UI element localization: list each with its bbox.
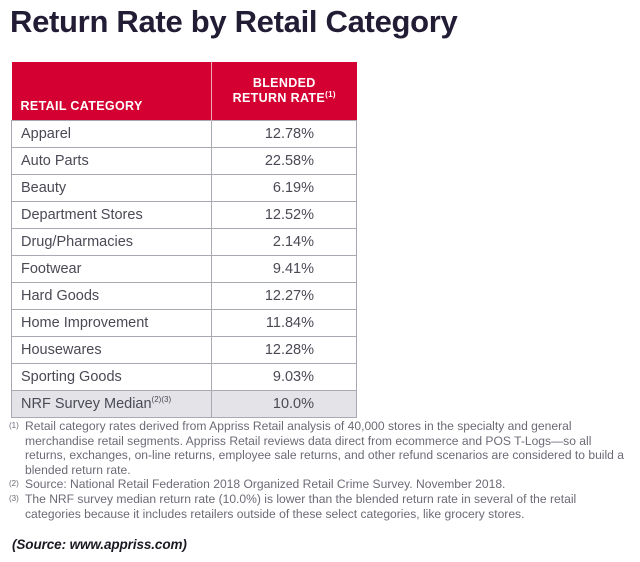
cell-blended-return-rate: 12.78% xyxy=(212,121,357,148)
page-title: Return Rate by Retail Category xyxy=(10,2,458,42)
column-header-blended-return-rate[interactable]: BLENDED RETURN RATE(1) xyxy=(212,62,357,121)
footnote: (1)Retail category rates derived from Ap… xyxy=(9,419,631,477)
footnote: (2)Source: National Retail Federation 20… xyxy=(9,477,631,492)
cell-retail-category: Hard Goods xyxy=(12,283,212,310)
cell-blended-return-rate: 12.28% xyxy=(212,337,357,364)
cell-retail-category: Auto Parts xyxy=(12,148,212,175)
retail-category-label: NRF Survey Median xyxy=(21,396,152,412)
footnote: (3)The NRF survey median return rate (10… xyxy=(9,492,631,521)
footnote-text: Retail category rates derived from Appri… xyxy=(25,419,624,477)
column-header-line-1: BLENDED xyxy=(216,76,353,91)
cell-retail-category: Sporting Goods xyxy=(12,364,212,391)
footnotes-list: (1)Retail category rates derived from Ap… xyxy=(9,419,631,521)
footnote-text: The NRF survey median return rate (10.0%… xyxy=(25,492,576,521)
table-body: Apparel12.78%Auto Parts22.58%Beauty6.19%… xyxy=(12,121,357,418)
cell-retail-category: Home Improvement xyxy=(12,310,212,337)
table-row[interactable]: NRF Survey Median(2)(3)10.0% xyxy=(12,391,357,418)
footnote-marker: (3) xyxy=(9,492,19,507)
table-row[interactable]: Housewares12.28% xyxy=(12,337,357,364)
cell-blended-return-rate: 9.41% xyxy=(212,256,357,283)
cell-retail-category: Apparel xyxy=(12,121,212,148)
table-row[interactable]: Department Stores12.52% xyxy=(12,202,357,229)
cell-retail-category: Department Stores xyxy=(12,202,212,229)
column-header-retail-category[interactable]: RETAIL CATEGORY xyxy=(12,62,212,121)
retail-category-label: Home Improvement xyxy=(21,315,148,331)
table-row[interactable]: Hard Goods12.27% xyxy=(12,283,357,310)
column-header-line-2-label: RETURN RATE xyxy=(233,91,326,105)
table-header: RETAIL CATEGORY BLENDED RETURN RATE(1) xyxy=(12,62,357,121)
cell-retail-category: Housewares xyxy=(12,337,212,364)
cell-blended-return-rate: 11.84% xyxy=(212,310,357,337)
cell-blended-return-rate: 22.58% xyxy=(212,148,357,175)
cell-blended-return-rate: 9.03% xyxy=(212,364,357,391)
return-rate-table: RETAIL CATEGORY BLENDED RETURN RATE(1) A… xyxy=(11,62,357,418)
table-row[interactable]: Sporting Goods9.03% xyxy=(12,364,357,391)
cell-retail-category: Beauty xyxy=(12,175,212,202)
cell-retail-category: Drug/Pharmacies xyxy=(12,229,212,256)
footnote-marker-2-3: (2)(3) xyxy=(152,395,172,404)
footnote-marker: (2) xyxy=(9,477,19,492)
retail-category-label: Department Stores xyxy=(21,207,143,223)
footnote-marker: (1) xyxy=(9,419,19,434)
table-row[interactable]: Beauty6.19% xyxy=(12,175,357,202)
table-header-row: RETAIL CATEGORY BLENDED RETURN RATE(1) xyxy=(12,62,357,121)
cell-blended-return-rate: 12.52% xyxy=(212,202,357,229)
column-header-retail-category-label: RETAIL CATEGORY xyxy=(21,99,143,113)
table-row[interactable]: Drug/Pharmacies2.14% xyxy=(12,229,357,256)
cell-blended-return-rate: 12.27% xyxy=(212,283,357,310)
retail-category-label: Sporting Goods xyxy=(21,369,122,385)
cell-blended-return-rate: 10.0% xyxy=(212,391,357,418)
table-row[interactable]: Home Improvement11.84% xyxy=(12,310,357,337)
table-row[interactable]: Footwear9.41% xyxy=(12,256,357,283)
cell-retail-category: NRF Survey Median(2)(3) xyxy=(12,391,212,418)
retail-category-label: Hard Goods xyxy=(21,288,99,304)
retail-category-label: Auto Parts xyxy=(21,153,89,169)
cell-blended-return-rate: 6.19% xyxy=(212,175,357,202)
footnote-marker-1: (1) xyxy=(325,89,336,98)
table-row[interactable]: Auto Parts22.58% xyxy=(12,148,357,175)
column-header-line-2: RETURN RATE(1) xyxy=(216,91,353,106)
retail-category-label: Footwear xyxy=(21,261,81,277)
table-row[interactable]: Apparel12.78% xyxy=(12,121,357,148)
retail-category-label: Beauty xyxy=(21,180,66,196)
return-rate-table-container: RETAIL CATEGORY BLENDED RETURN RATE(1) A… xyxy=(11,62,356,418)
retail-category-label: Drug/Pharmacies xyxy=(21,234,133,250)
footnote-text: Source: National Retail Federation 2018 … xyxy=(25,477,505,491)
source-attribution: (Source: www.appriss.com) xyxy=(12,537,187,552)
retail-category-label: Apparel xyxy=(21,126,71,142)
retail-category-label: Housewares xyxy=(21,342,102,358)
cell-retail-category: Footwear xyxy=(12,256,212,283)
cell-blended-return-rate: 2.14% xyxy=(212,229,357,256)
